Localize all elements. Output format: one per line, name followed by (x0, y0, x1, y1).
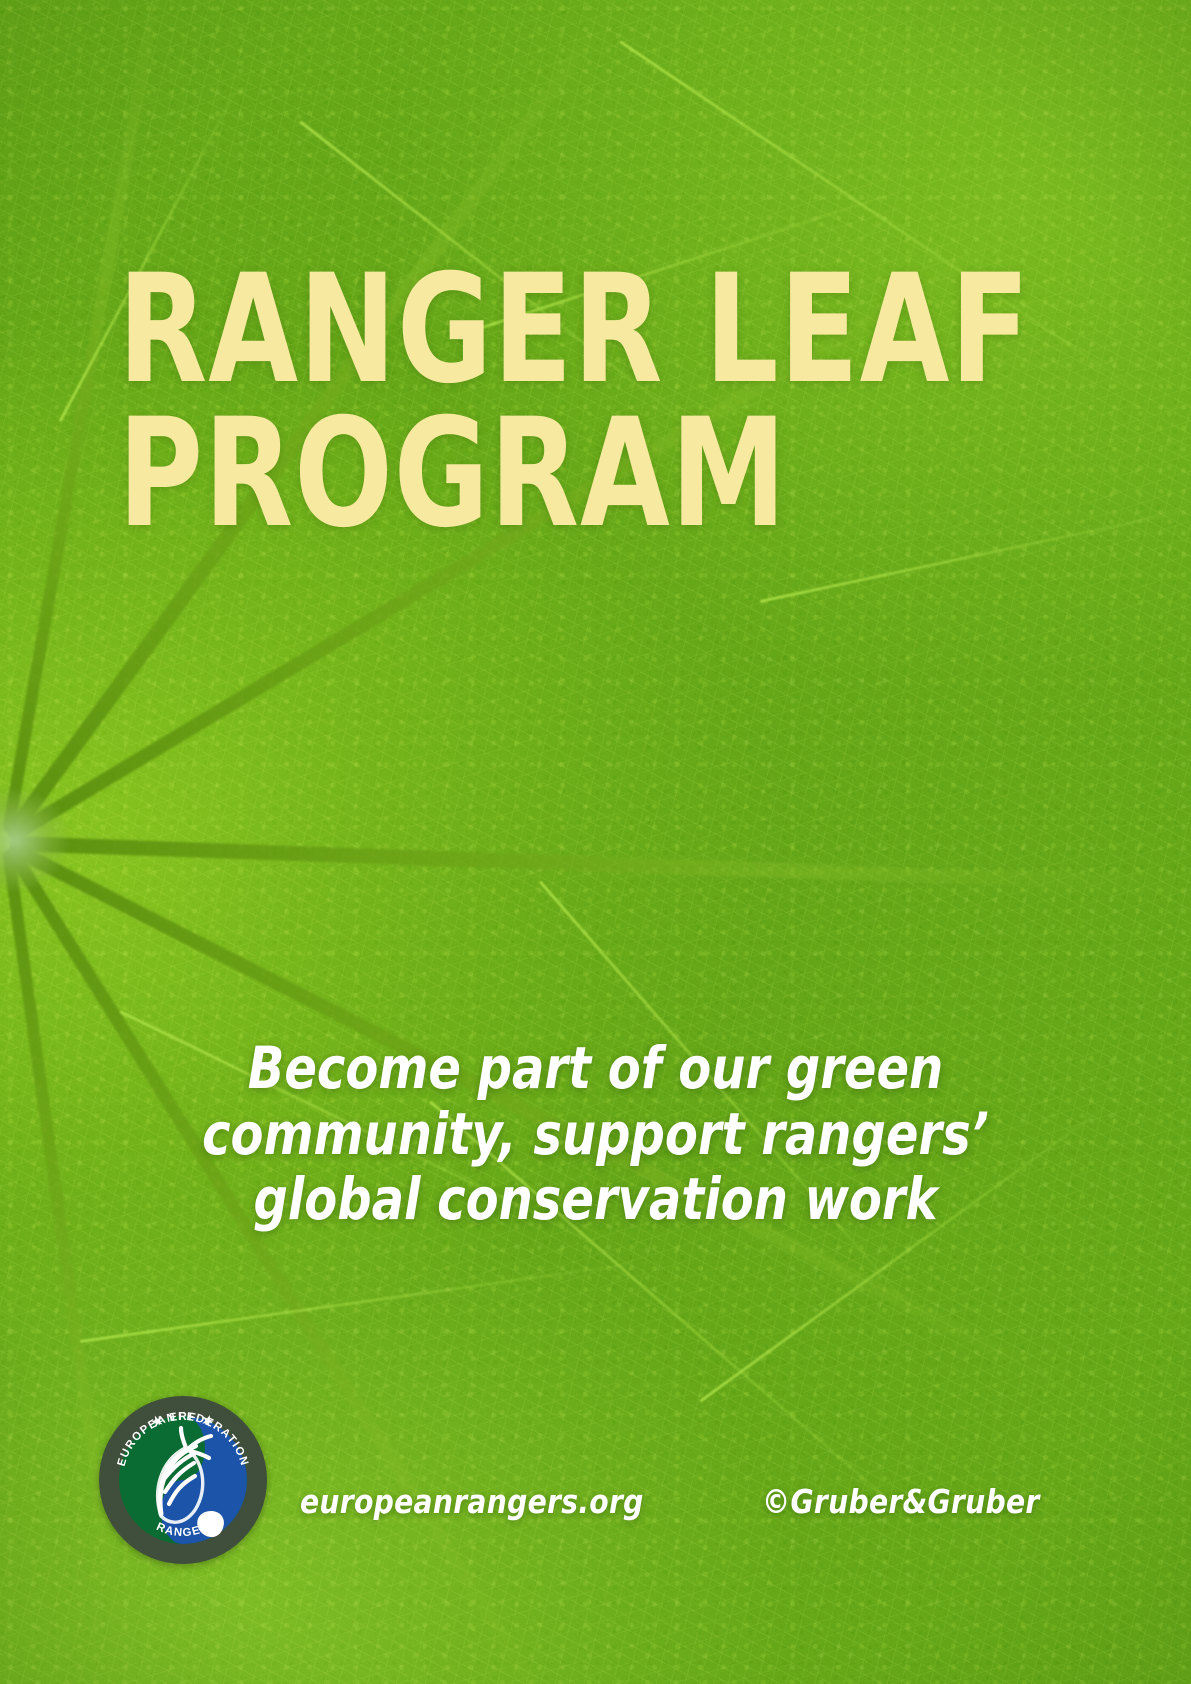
svg-text:EUROPEAN: EUROPEAN (116, 1411, 178, 1468)
logo-ring-text: ★ ERF ★ EUROPEAN FEDERATION RANGER (99, 1396, 267, 1564)
european-ranger-federation-logo[interactable]: ★ ERF ★ EUROPEAN FEDERATION RANGER (99, 1396, 267, 1564)
svg-text:FEDERATION: FEDERATION (178, 1411, 250, 1468)
title-line-1: RANGER LEAF (118, 258, 961, 402)
poster-root: RANGER LEAF PROGRAM Become part of our g… (0, 0, 1191, 1684)
website-link[interactable]: europeanrangers.org (300, 1482, 644, 1521)
poster-content: RANGER LEAF PROGRAM Become part of our g… (0, 0, 1191, 1684)
subtitle-line-2: community, support rangers’ (149, 1102, 1042, 1168)
subtitle-line-1: Become part of our green (149, 1036, 1042, 1102)
logo-ring-text-left: EUROPEAN (116, 1411, 178, 1468)
page-title: RANGER LEAF PROGRAM (118, 258, 1098, 546)
title-line-2: PROGRAM (118, 402, 961, 546)
photo-credit: ©Gruber&Gruber (762, 1482, 1040, 1521)
subtitle-line-3: global conservation work (149, 1167, 1042, 1233)
subtitle: Become part of our green community, supp… (0, 1036, 1191, 1233)
svg-text:RANGER: RANGER (154, 1521, 211, 1539)
logo-ring-text-right: FEDERATION (178, 1411, 250, 1468)
logo-ring-text-bottom: RANGER (154, 1521, 211, 1539)
